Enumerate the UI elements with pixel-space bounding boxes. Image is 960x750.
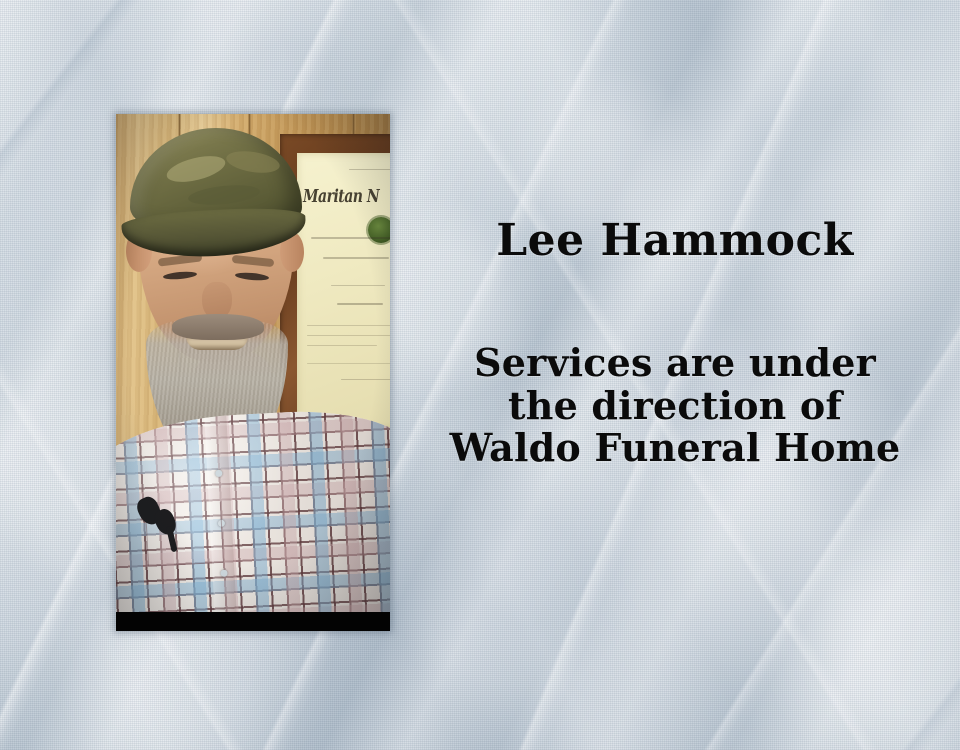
memorial-card: Maritan N: [0, 0, 960, 750]
service-line-2: the direction of: [420, 385, 930, 428]
camo-patch: [164, 151, 228, 187]
camo-patch: [187, 182, 260, 207]
plaid-shirt: [116, 405, 390, 631]
service-direction-note: Services are under the direction of Wald…: [420, 342, 930, 470]
deceased-name: Lee Hammock: [420, 218, 930, 264]
photo-black-bar: [116, 612, 390, 631]
mustache: [172, 314, 264, 340]
portrait-photo: Maritan N: [116, 114, 390, 631]
text-block: Lee Hammock Services are under the direc…: [420, 150, 930, 470]
person-figure: [116, 114, 390, 631]
sunglasses-temple: [166, 526, 178, 553]
camo-patch: [225, 148, 281, 176]
service-line-3: Waldo Funeral Home: [420, 427, 930, 470]
portrait-photo-inner: Maritan N: [116, 114, 390, 631]
service-line-1: Services are under: [420, 342, 930, 385]
